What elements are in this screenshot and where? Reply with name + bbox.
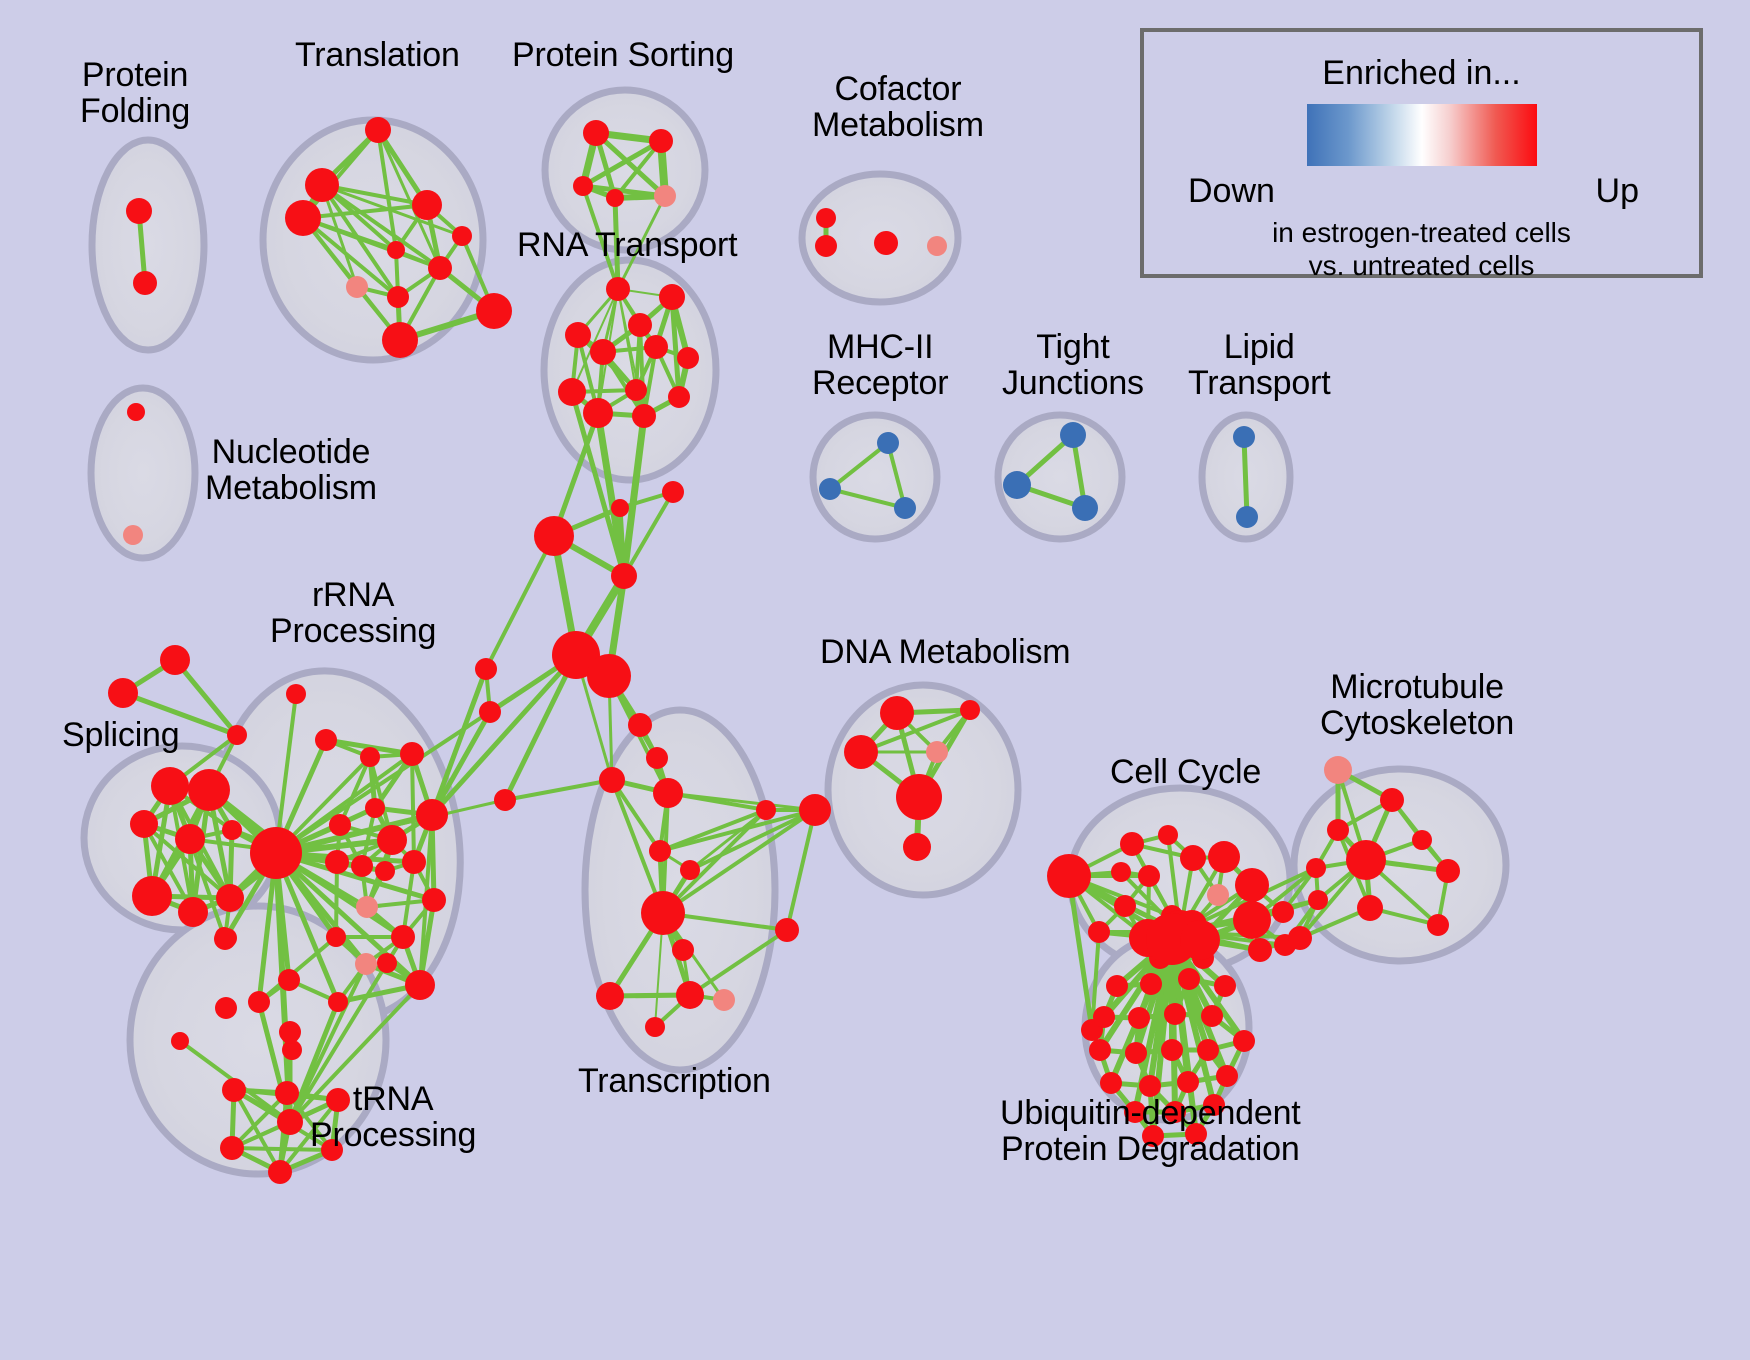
network-node[interactable] (188, 769, 230, 811)
network-node[interactable] (680, 860, 700, 880)
network-node[interactable] (583, 120, 609, 146)
network-node[interactable] (606, 277, 630, 301)
network-node[interactable] (1233, 901, 1271, 939)
cluster-hull-mhc-ii-receptor (813, 415, 937, 539)
network-node[interactable] (377, 825, 407, 855)
network-edge (432, 669, 486, 815)
network-node[interactable] (877, 432, 899, 454)
network-node[interactable] (590, 339, 616, 365)
network-node[interactable] (816, 208, 836, 228)
network-node[interactable] (775, 918, 799, 942)
network-node[interactable] (475, 658, 497, 680)
cluster-label-rrna-processing: rRNA Processing (270, 578, 436, 649)
cluster-hull-protein-folding (92, 140, 204, 350)
network-node[interactable] (1047, 854, 1091, 898)
legend-colorbar (1307, 104, 1537, 166)
network-node[interactable] (277, 1109, 303, 1135)
network-node[interactable] (346, 276, 368, 298)
network-node[interactable] (1088, 921, 1110, 943)
network-node[interactable] (171, 1032, 189, 1050)
network-node[interactable] (220, 1136, 244, 1160)
legend-subtitle-line2: vs. untreated cells (1309, 250, 1535, 281)
network-node[interactable] (268, 1160, 292, 1184)
network-node[interactable] (175, 824, 205, 854)
network-node[interactable] (126, 198, 152, 224)
network-node[interactable] (305, 168, 339, 202)
network-node[interactable] (391, 925, 415, 949)
network-node[interactable] (1327, 819, 1349, 841)
network-node[interactable] (351, 855, 373, 877)
network-node[interactable] (329, 814, 351, 836)
cluster-label-transcription: Transcription (578, 1064, 771, 1100)
network-node[interactable] (960, 700, 980, 720)
network-node[interactable] (896, 774, 942, 820)
network-node[interactable] (108, 678, 138, 708)
network-node[interactable] (286, 684, 306, 704)
network-node[interactable] (1197, 1039, 1219, 1061)
network-node[interactable] (130, 810, 158, 838)
network-node[interactable] (275, 1081, 299, 1105)
network-node[interactable] (1060, 422, 1086, 448)
network-node[interactable] (874, 231, 898, 255)
legend-title: Enriched in... (1144, 54, 1699, 93)
network-node[interactable] (1214, 975, 1236, 997)
network-node[interactable] (1093, 1006, 1115, 1028)
network-node[interactable] (452, 226, 472, 246)
cluster-label-dna-metabolism: DNA Metabolism (820, 635, 1070, 671)
network-node[interactable] (1177, 1071, 1199, 1093)
network-node[interactable] (799, 794, 831, 826)
cluster-label-cofactor-metabolism: Cofactor Metabolism (812, 72, 984, 143)
network-node[interactable] (476, 293, 512, 329)
network-node[interactable] (1308, 890, 1328, 910)
network-node[interactable] (632, 404, 656, 428)
network-node[interactable] (402, 850, 426, 874)
network-node[interactable] (649, 129, 673, 153)
network-node[interactable] (844, 735, 878, 769)
network-node[interactable] (1272, 901, 1294, 923)
cluster-label-mhc-ii-receptor: MHC-II Receptor (812, 330, 948, 401)
cluster-label-translation: Translation (295, 38, 460, 74)
network-node[interactable] (1100, 1072, 1122, 1094)
cluster-label-lipid-transport: Lipid Transport (1188, 330, 1330, 401)
network-node[interactable] (1111, 862, 1131, 882)
network-node[interactable] (285, 200, 321, 236)
network-node[interactable] (1161, 1039, 1183, 1061)
cluster-label-cell-cycle: Cell Cycle (1110, 755, 1261, 791)
network-node[interactable] (1306, 858, 1326, 878)
network-node[interactable] (1248, 938, 1272, 962)
network-node[interactable] (355, 953, 377, 975)
network-node[interactable] (676, 981, 704, 1009)
network-node[interactable] (625, 379, 647, 401)
legend-box: Enriched in... Down Up in estrogen-treat… (1140, 28, 1703, 278)
legend-subtitle: in estrogen-treated cellsvs. untreated c… (1144, 216, 1699, 282)
network-node[interactable] (1233, 426, 1255, 448)
network-node[interactable] (387, 286, 409, 308)
cluster-label-microtubule-cytoskeleton: Microtubule Cytoskeleton (1320, 670, 1514, 741)
network-node[interactable] (644, 335, 668, 359)
network-node[interactable] (1427, 914, 1449, 936)
network-node[interactable] (278, 969, 300, 991)
network-node[interactable] (1114, 895, 1136, 917)
network-node[interactable] (646, 747, 668, 769)
network-node[interactable] (178, 897, 208, 927)
network-figure: Protein FoldingTranslationProtein Sortin… (0, 0, 1750, 1360)
network-node[interactable] (1288, 926, 1312, 950)
network-node[interactable] (1346, 840, 1386, 880)
network-node[interactable] (1208, 841, 1240, 873)
network-node[interactable] (356, 896, 378, 918)
network-edge (486, 536, 554, 669)
network-node[interactable] (387, 241, 405, 259)
network-node[interactable] (222, 1078, 246, 1102)
network-node[interactable] (479, 701, 501, 723)
network-node[interactable] (606, 189, 624, 207)
network-node[interactable] (1120, 832, 1144, 856)
network-node[interactable] (645, 1017, 665, 1037)
network-node[interactable] (659, 284, 685, 310)
network-node[interactable] (628, 713, 652, 737)
cluster-label-trna-processing: tRNA Processing (310, 1082, 476, 1153)
network-node[interactable] (222, 820, 242, 840)
network-node[interactable] (1324, 756, 1352, 784)
network-node[interactable] (1233, 1030, 1255, 1052)
network-node[interactable] (565, 322, 591, 348)
network-node[interactable] (1380, 788, 1404, 812)
network-node[interactable] (325, 850, 349, 874)
network-node[interactable] (596, 982, 624, 1010)
network-node[interactable] (599, 767, 625, 793)
network-node[interactable] (662, 481, 684, 503)
network-node[interactable] (756, 800, 776, 820)
network-node[interactable] (1180, 845, 1206, 871)
network-node[interactable] (927, 236, 947, 256)
network-node[interactable] (422, 888, 446, 912)
network-node[interactable] (1089, 1039, 1111, 1061)
network-node[interactable] (649, 840, 671, 862)
network-node[interactable] (1357, 895, 1383, 921)
network-node[interactable] (375, 861, 395, 881)
network-node[interactable] (1235, 868, 1269, 902)
network-node[interactable] (534, 516, 574, 556)
network-node[interactable] (248, 991, 270, 1013)
network-node[interactable] (653, 778, 683, 808)
network-node[interactable] (281, 1026, 299, 1044)
network-node[interactable] (611, 563, 637, 589)
network-node[interactable] (227, 725, 247, 745)
network-node[interactable] (1140, 973, 1162, 995)
network-node[interactable] (1436, 859, 1460, 883)
network-node[interactable] (1125, 1042, 1147, 1064)
network-node[interactable] (365, 798, 385, 818)
cluster-label-protein-folding: Protein Folding (80, 58, 190, 129)
network-node[interactable] (573, 176, 593, 196)
network-node[interactable] (1138, 865, 1160, 887)
network-node[interactable] (815, 235, 837, 257)
network-node[interactable] (654, 185, 676, 207)
network-node[interactable] (216, 884, 244, 912)
network-node[interactable] (677, 347, 699, 369)
cluster-label-protein-sorting: Protein Sorting (512, 38, 734, 74)
network-node[interactable] (400, 742, 424, 766)
network-node[interactable] (1207, 884, 1229, 906)
network-node[interactable] (416, 799, 448, 831)
network-node[interactable] (672, 939, 694, 961)
network-node[interactable] (1003, 471, 1031, 499)
network-node[interactable] (641, 891, 685, 935)
network-node[interactable] (819, 478, 841, 500)
cluster-label-nucleotide-metabolism: Nucleotide Metabolism (205, 435, 377, 506)
network-node[interactable] (217, 928, 237, 948)
network-node[interactable] (628, 313, 652, 337)
network-node[interactable] (377, 953, 397, 973)
network-node[interactable] (250, 827, 302, 879)
cluster-hull-rna-transport (544, 260, 716, 480)
network-node[interactable] (412, 190, 442, 220)
network-edge (412, 754, 414, 862)
network-node[interactable] (123, 525, 143, 545)
network-node[interactable] (1106, 975, 1128, 997)
network-node[interactable] (1180, 920, 1220, 960)
network-node[interactable] (1236, 506, 1258, 528)
network-node[interactable] (713, 989, 735, 1011)
network-node[interactable] (1158, 825, 1178, 845)
cluster-label-splicing: Splicing (62, 718, 179, 754)
network-node[interactable] (1128, 1007, 1150, 1029)
network-edge (1244, 437, 1247, 517)
legend-subtitle-line1: in estrogen-treated cells (1272, 217, 1571, 248)
network-node[interactable] (365, 117, 391, 143)
network-node[interactable] (880, 696, 914, 730)
network-node[interactable] (326, 927, 346, 947)
network-node[interactable] (132, 876, 172, 916)
network-node[interactable] (360, 747, 380, 767)
network-node[interactable] (1412, 830, 1432, 850)
network-node[interactable] (133, 271, 157, 295)
network-node[interactable] (1216, 1065, 1238, 1087)
network-node[interactable] (926, 741, 948, 763)
network-node[interactable] (328, 992, 348, 1012)
network-node[interactable] (215, 997, 237, 1019)
network-node[interactable] (587, 654, 631, 698)
network-node[interactable] (160, 645, 190, 675)
network-node[interactable] (894, 497, 916, 519)
network-node[interactable] (428, 256, 452, 280)
network-node[interactable] (558, 378, 586, 406)
cluster-label-ubiquitin-protein-degradation: Ubiquitin-dependent Protein Degradation (1000, 1096, 1301, 1167)
network-node[interactable] (668, 386, 690, 408)
cluster-label-tight-junctions: Tight Junctions (1002, 330, 1144, 401)
network-node[interactable] (1164, 1003, 1186, 1025)
network-node[interactable] (903, 833, 931, 861)
network-node[interactable] (382, 322, 418, 358)
network-node[interactable] (1178, 968, 1200, 990)
network-node[interactable] (1072, 495, 1098, 521)
legend-low-label: Down (1188, 172, 1275, 211)
network-node[interactable] (151, 767, 189, 805)
legend-high-label: Up (1596, 172, 1639, 211)
cluster-label-rna-transport: RNA Transport (517, 228, 737, 264)
network-node[interactable] (1201, 1005, 1223, 1027)
network-node[interactable] (127, 403, 145, 421)
network-node[interactable] (494, 789, 516, 811)
network-node[interactable] (405, 970, 435, 1000)
network-node[interactable] (315, 729, 337, 751)
network-node[interactable] (583, 398, 613, 428)
network-node[interactable] (611, 499, 629, 517)
